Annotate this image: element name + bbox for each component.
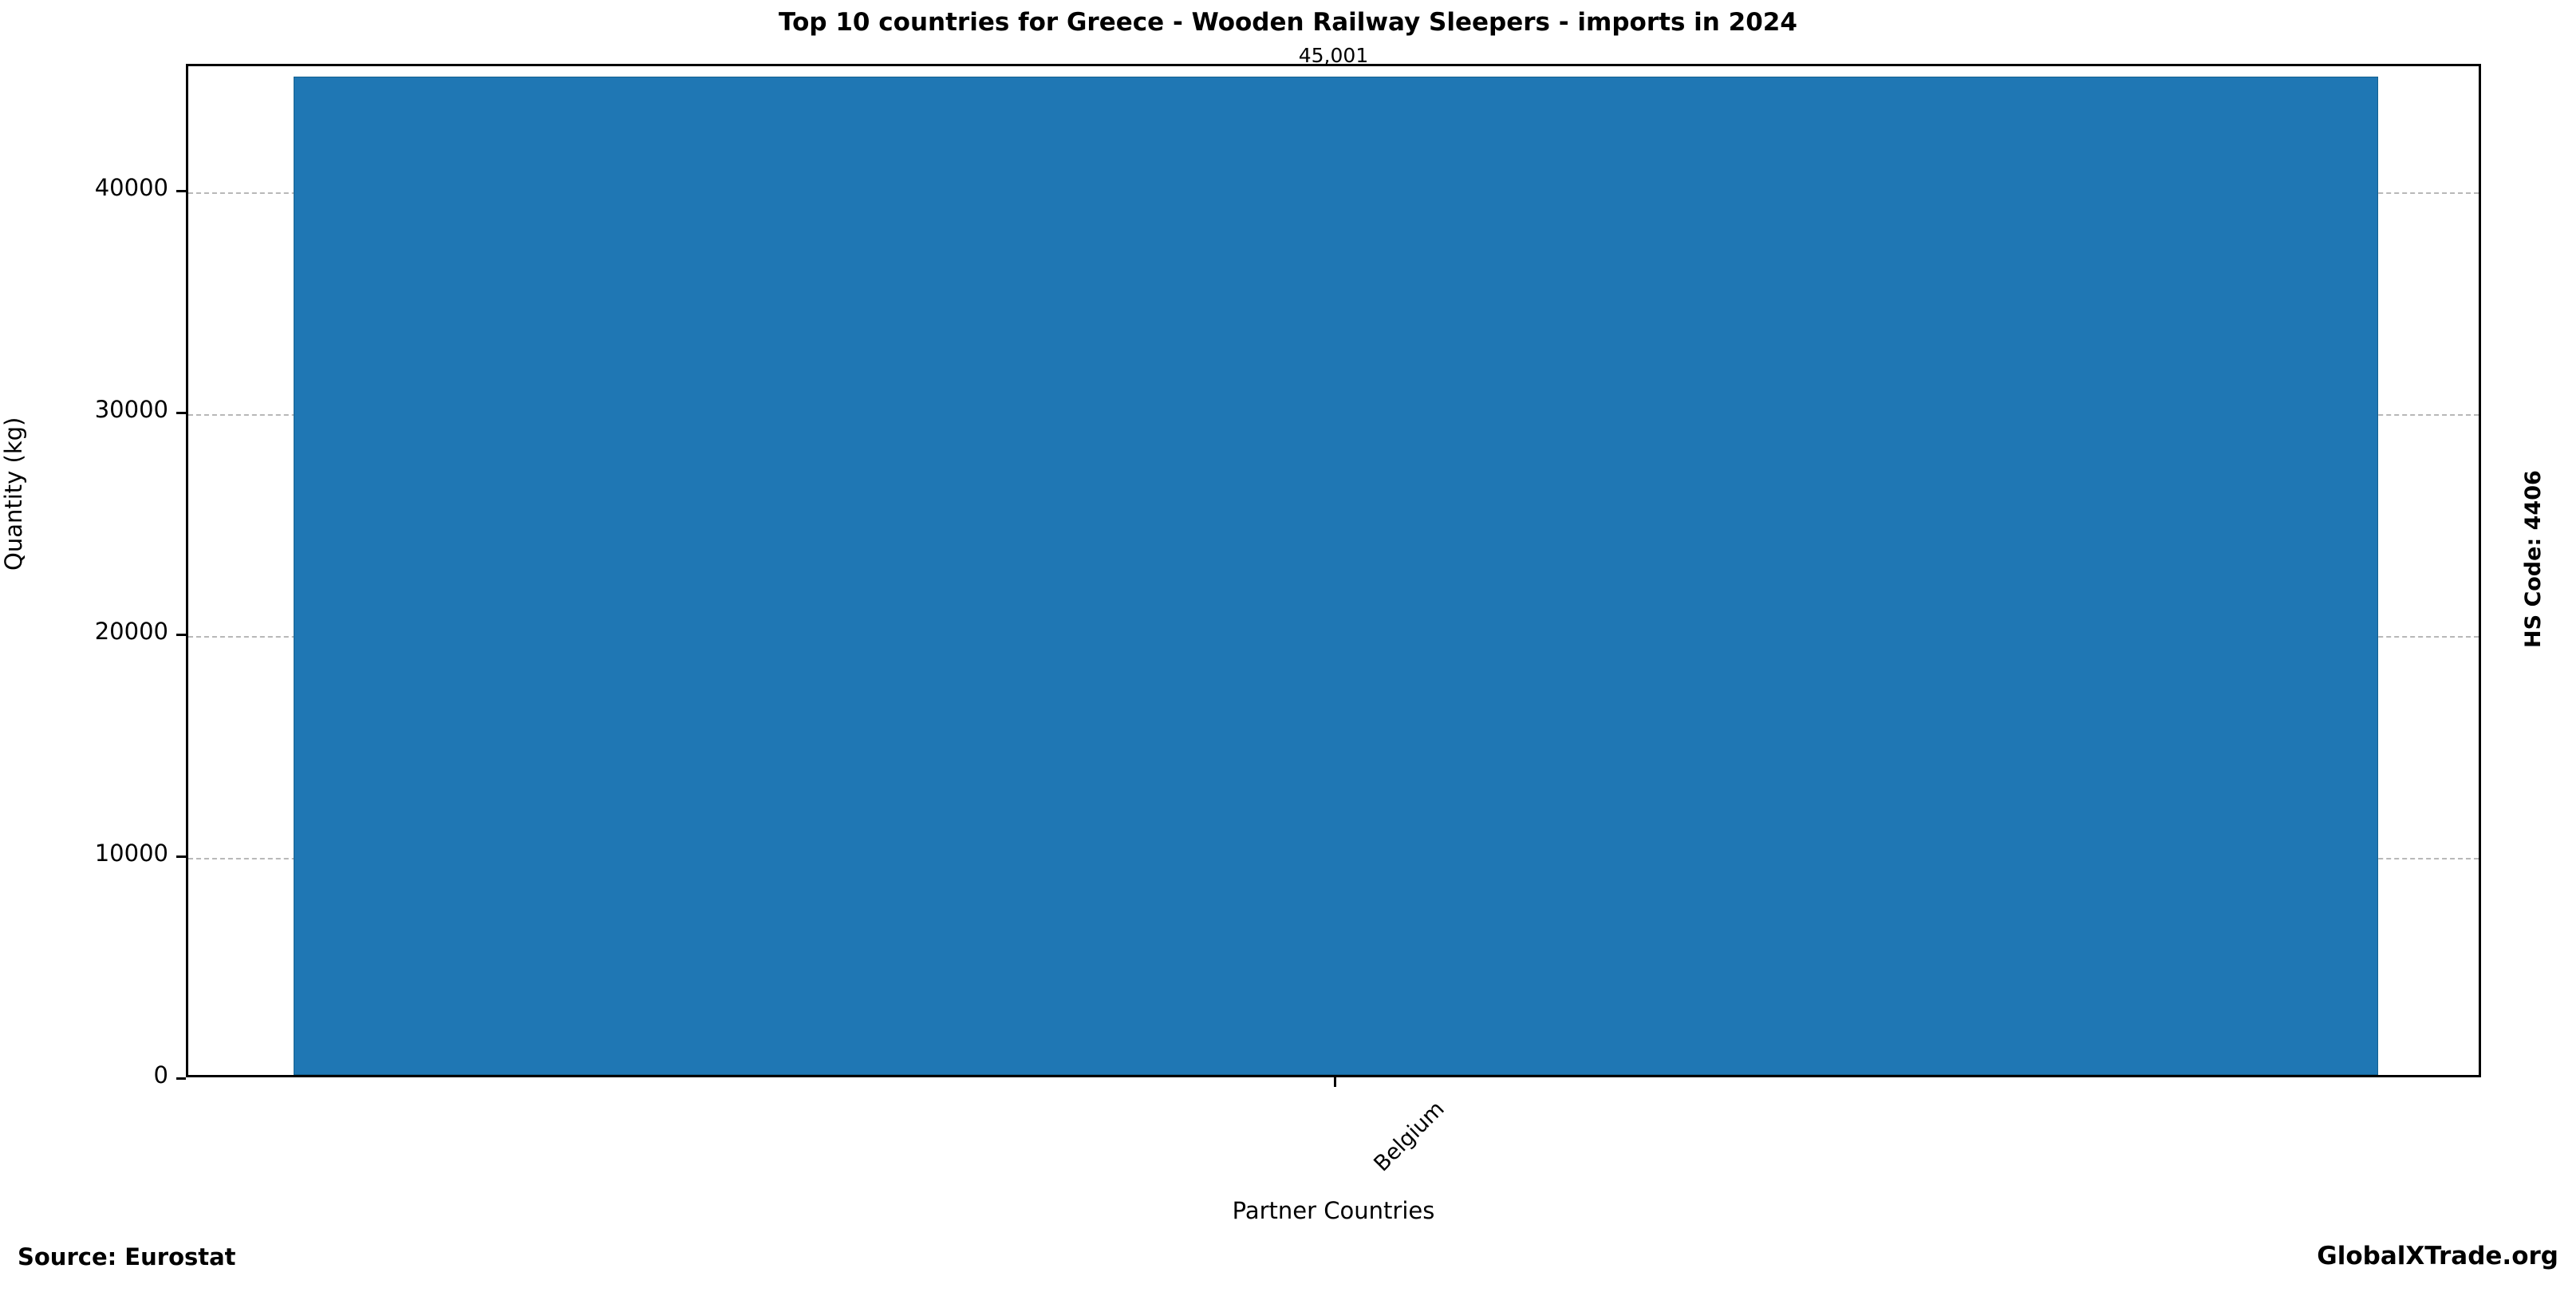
y-tick-label: 30000 xyxy=(95,396,168,423)
y-axis-label: Quantity (kg) xyxy=(0,417,27,571)
y-tick-mark xyxy=(176,855,186,858)
y-tick-label: 10000 xyxy=(95,840,168,867)
y-tick-label: 20000 xyxy=(95,618,168,645)
hs-code-annotation: HS Code: 4406 xyxy=(2521,470,2546,648)
watermark: GlobalXTrade.org xyxy=(2317,1242,2558,1270)
bars-layer xyxy=(188,66,2479,1075)
source-note: Source: Eurostat xyxy=(18,1243,236,1270)
bar[interactable] xyxy=(294,77,2377,1075)
plot-area xyxy=(186,64,2481,1077)
y-tick-mark xyxy=(176,190,186,192)
y-tick-mark xyxy=(176,412,186,414)
x-tick-label: Belgium xyxy=(1369,1096,1449,1176)
bar-value-label: 45,001 xyxy=(1174,44,1493,67)
y-tick-label: 40000 xyxy=(95,174,168,201)
chart-title: Top 10 countries for Greece - Wooden Rai… xyxy=(0,8,2576,37)
y-tick-mark xyxy=(176,634,186,636)
y-tick-mark xyxy=(176,1077,186,1080)
y-tick-label: 0 xyxy=(154,1061,168,1089)
x-axis-label: Partner Countries xyxy=(186,1197,2481,1224)
x-tick-mark xyxy=(1334,1077,1336,1087)
